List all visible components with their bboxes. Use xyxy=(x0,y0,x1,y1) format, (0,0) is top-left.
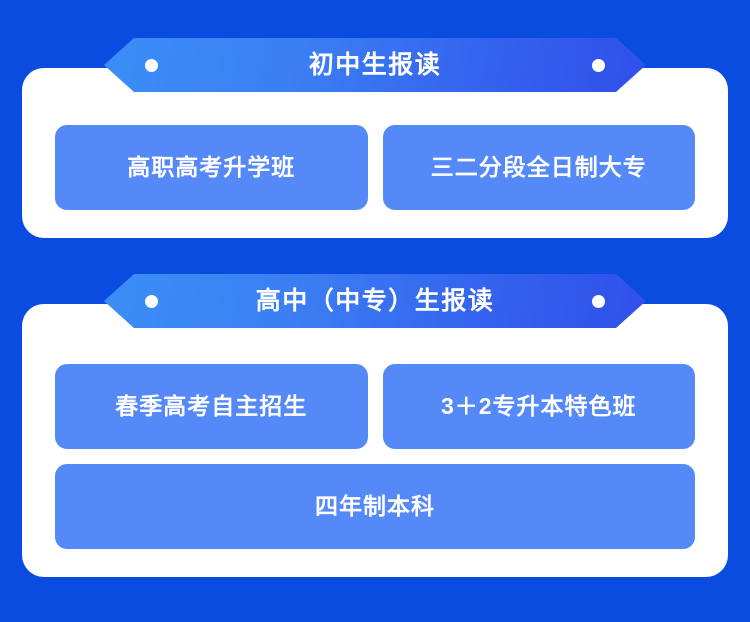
section-title-1: 初中生报读 xyxy=(309,53,442,78)
enrollment-options-page: 高职高考升学班 三二分段全日制大专 初中生报读 春季高考自主招生 3＋2专升本特… xyxy=(0,0,750,622)
ribbon-dot-right-icon xyxy=(592,295,605,308)
ribbon-dot-left-icon xyxy=(145,59,158,72)
section-ribbon-2: 高中（中专）生报读 xyxy=(104,274,646,328)
option-button-sanerfenduan[interactable]: 三二分段全日制大专 xyxy=(383,125,696,210)
option-button-four-year-bachelor[interactable]: 四年制本科 xyxy=(55,464,695,549)
option-button-chunji-gaokao[interactable]: 春季高考自主招生 xyxy=(55,364,368,449)
section-ribbon-1: 初中生报读 xyxy=(104,38,646,92)
options-grid-1: 高职高考升学班 三二分段全日制大专 xyxy=(22,125,728,210)
section-title-2: 高中（中专）生报读 xyxy=(256,289,495,314)
ribbon-dot-right-icon xyxy=(592,59,605,72)
ribbon-dot-left-icon xyxy=(145,295,158,308)
options-card-1: 高职高考升学班 三二分段全日制大专 xyxy=(22,68,728,238)
option-button-gaozhi-gaokao[interactable]: 高职高考升学班 xyxy=(55,125,368,210)
option-button-3plus2-zhuanshengben[interactable]: 3＋2专升本特色班 xyxy=(383,364,696,449)
options-card-2: 春季高考自主招生 3＋2专升本特色班 四年制本科 xyxy=(22,304,728,577)
options-grid-2: 春季高考自主招生 3＋2专升本特色班 四年制本科 xyxy=(22,364,728,549)
